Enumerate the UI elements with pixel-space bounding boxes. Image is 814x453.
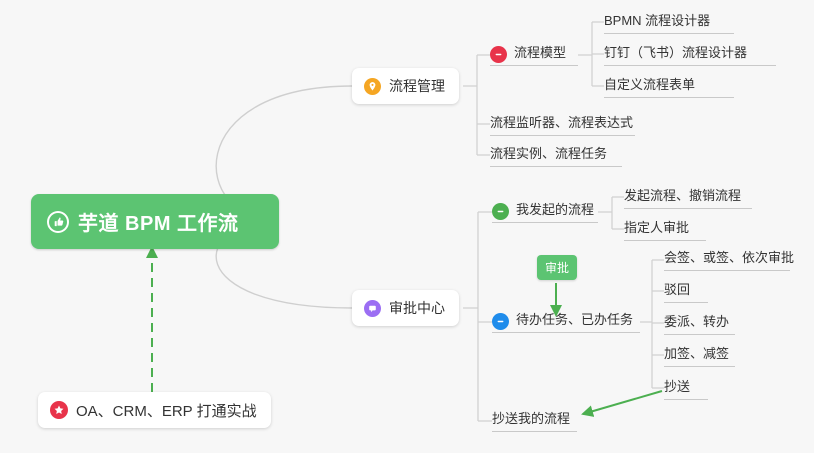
star-circle-icon [50, 401, 68, 419]
node-cc-to-me[interactable]: 抄送我的流程 [492, 408, 577, 432]
node-todo-done-task[interactable]: 待办任务、已办任务 [492, 309, 640, 333]
minus-circle-icon [490, 46, 507, 63]
node-delegate-transfer[interactable]: 委派、转办 [664, 311, 735, 335]
node-label: 抄送我的流程 [492, 408, 570, 427]
node-process-management[interactable]: 流程管理 [352, 68, 459, 104]
node-label: OA、CRM、ERP 打通实战 [76, 400, 257, 421]
node-label: BPMN 流程设计器 [604, 10, 710, 29]
node-approval-center[interactable]: 审批中心 [352, 290, 459, 326]
node-listener-expression[interactable]: 流程监听器、流程表达式 [490, 112, 635, 136]
node-label: 加签、减签 [664, 343, 729, 362]
node-label: 待办任务、已办任务 [516, 309, 633, 328]
approval-chip-label: 审批 [545, 261, 569, 275]
root-label: 芋道 BPM 工作流 [78, 207, 239, 236]
node-label: 审批中心 [389, 298, 445, 318]
node-label: 流程实例、流程任务 [490, 143, 607, 162]
mindmap-canvas: 芋道 BPM 工作流 流程管理 流程模型 BPMN 流程设计器 钉钉（飞书）流程… [0, 0, 814, 453]
node-cc[interactable]: 抄送 [664, 376, 708, 400]
node-label: 委派、转办 [664, 311, 729, 330]
node-assign-approver[interactable]: 指定人审批 [624, 217, 706, 241]
node-start-cancel-process[interactable]: 发起流程、撤销流程 [624, 185, 752, 209]
node-label: 流程模型 [514, 42, 566, 61]
chat-circle-icon [364, 300, 381, 317]
node-add-remove-sign[interactable]: 加签、减签 [664, 343, 735, 367]
node-sign-modes[interactable]: 会签、或签、依次审批 [664, 247, 790, 271]
approval-chip[interactable]: 审批 [537, 255, 577, 280]
location-pin-icon [364, 78, 381, 95]
node-label: 会签、或签、依次审批 [664, 247, 794, 266]
node-label: 流程监听器、流程表达式 [490, 112, 633, 131]
node-dingtalk-designer[interactable]: 钉钉（飞书）流程设计器 [604, 42, 776, 66]
node-my-started-process[interactable]: 我发起的流程 [492, 199, 598, 223]
node-process-model[interactable]: 流程模型 [490, 42, 578, 66]
minus-circle-icon [492, 313, 509, 330]
node-label: 流程管理 [389, 76, 445, 96]
minus-circle-icon [492, 203, 509, 220]
node-custom-form[interactable]: 自定义流程表单 [604, 74, 734, 98]
root-node[interactable]: 芋道 BPM 工作流 [31, 194, 279, 249]
node-reject[interactable]: 驳回 [664, 279, 708, 303]
node-label: 发起流程、撤销流程 [624, 185, 741, 204]
node-bpmn-designer[interactable]: BPMN 流程设计器 [604, 10, 734, 34]
thumbs-up-icon [47, 211, 69, 233]
node-instance-task[interactable]: 流程实例、流程任务 [490, 143, 622, 167]
node-label: 钉钉（飞书）流程设计器 [604, 42, 747, 61]
node-label: 指定人审批 [624, 217, 689, 236]
node-oa-crm-erp[interactable]: OA、CRM、ERP 打通实战 [38, 392, 271, 428]
node-label: 自定义流程表单 [604, 74, 695, 93]
node-label: 抄送 [664, 376, 690, 395]
node-label: 驳回 [664, 279, 690, 298]
node-label: 我发起的流程 [516, 199, 594, 218]
